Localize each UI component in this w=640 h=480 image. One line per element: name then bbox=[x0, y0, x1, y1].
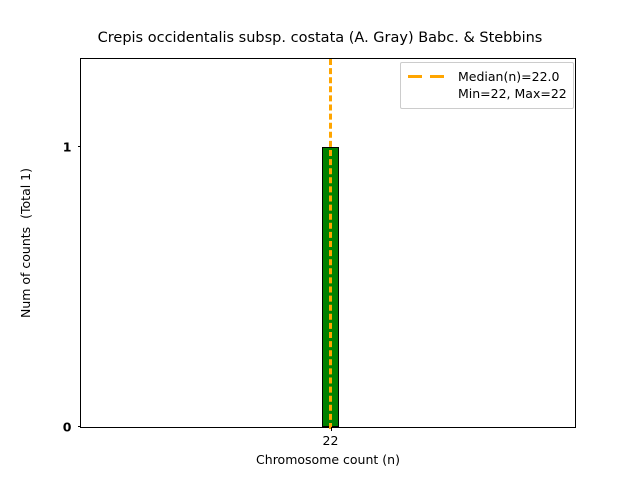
y-axis-title: Num of counts (Total 1) bbox=[18, 58, 33, 428]
chart-figure: Crepis occidentalis subsp. costata (A. G… bbox=[0, 0, 640, 480]
ytick-mark-0: 0 bbox=[78, 426, 82, 427]
ytick-label-1: 1 bbox=[63, 139, 72, 154]
y-axis-title-wrap: Num of counts (Total 1) bbox=[0, 58, 24, 428]
plot-area: 0 1 22 bbox=[80, 58, 576, 428]
ytick-label-0: 0 bbox=[63, 420, 72, 435]
plot-inner: 0 1 22 bbox=[81, 59, 575, 427]
ytick-mark-1: 1 bbox=[78, 146, 82, 147]
legend: Median(n)=22.0 Min=22, Max=22 bbox=[400, 62, 574, 109]
x-axis-title: Chromosome count (n) bbox=[80, 452, 576, 467]
legend-item-median: Median(n)=22.0 bbox=[408, 68, 566, 85]
dashed-line-icon bbox=[408, 71, 450, 83]
median-line bbox=[329, 59, 332, 429]
legend-label-range: Min=22, Max=22 bbox=[458, 85, 566, 102]
legend-label-median: Median(n)=22.0 bbox=[458, 69, 559, 84]
xtick-mark-22 bbox=[331, 427, 332, 431]
xtick-label-22: 22 bbox=[323, 433, 339, 448]
page-title: Crepis occidentalis subsp. costata (A. G… bbox=[0, 30, 640, 46]
